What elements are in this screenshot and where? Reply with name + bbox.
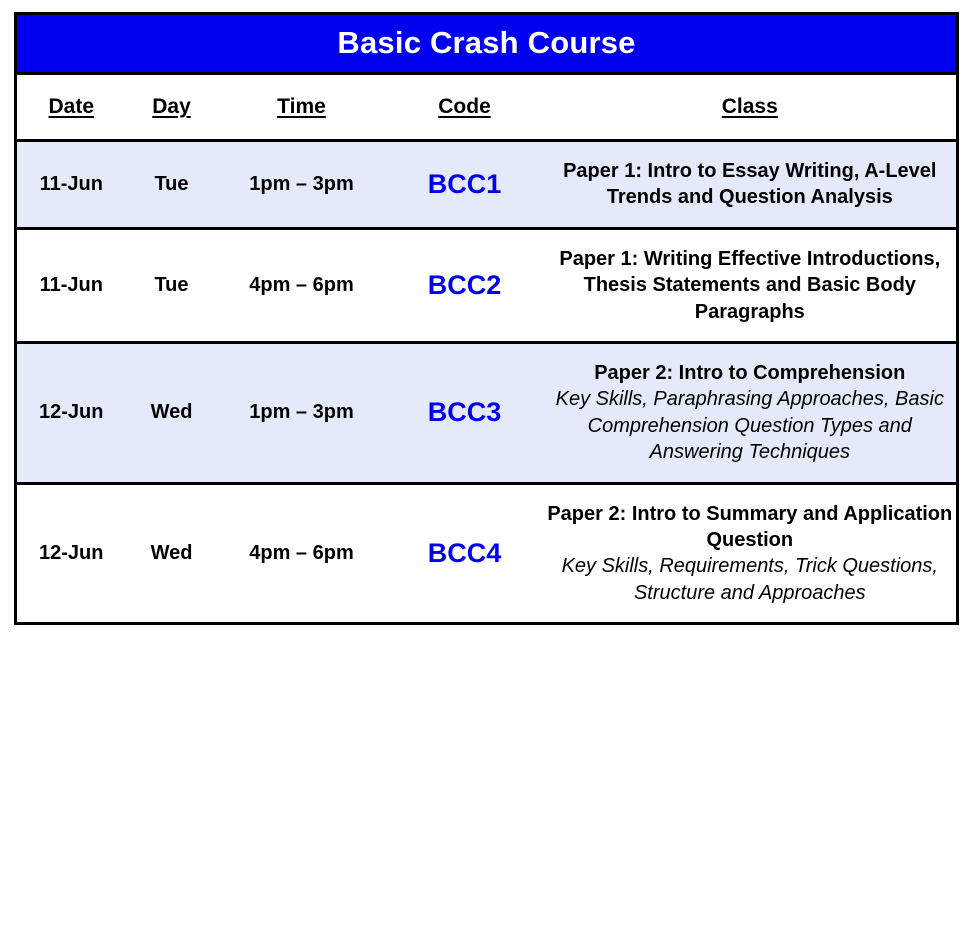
column-header-day-label: Day bbox=[152, 95, 191, 118]
column-header-time-label: Time bbox=[277, 95, 326, 118]
cell-time: 1pm – 3pm bbox=[218, 342, 386, 483]
cell-day: Wed bbox=[126, 342, 218, 483]
table-row: 12-Jun Wed 1pm – 3pm BCC3 Paper 2: Intro… bbox=[16, 342, 958, 483]
column-header-day: Day bbox=[126, 74, 218, 141]
column-header-date: Date bbox=[16, 74, 126, 141]
cell-class: Paper 2: Intro to Comprehension Key Skil… bbox=[544, 342, 958, 483]
cell-date: 12-Jun bbox=[16, 483, 126, 624]
table-row: 12-Jun Wed 4pm – 6pm BCC4 Paper 2: Intro… bbox=[16, 483, 958, 624]
cell-date: 12-Jun bbox=[16, 342, 126, 483]
course-schedule-table: Basic Crash Course Date Day Time Code Cl… bbox=[14, 12, 959, 625]
title-bar-row: Basic Crash Course bbox=[16, 14, 958, 74]
column-header-class-label: Class bbox=[722, 95, 778, 118]
cell-time: 4pm – 6pm bbox=[218, 483, 386, 624]
cell-date: 11-Jun bbox=[16, 228, 126, 342]
cell-time: 1pm – 3pm bbox=[218, 141, 386, 229]
table-row: 11-Jun Tue 4pm – 6pm BCC2 Paper 1: Writi… bbox=[16, 228, 958, 342]
column-header-row: Date Day Time Code Class bbox=[16, 74, 958, 141]
page-container: Basic Crash Course Date Day Time Code Cl… bbox=[0, 0, 970, 943]
class-subtitle: Key Skills, Requirements, Trick Question… bbox=[546, 553, 955, 606]
cell-code: BCC1 bbox=[386, 141, 544, 229]
class-subtitle: Key Skills, Paraphrasing Approaches, Bas… bbox=[546, 386, 955, 465]
class-title: Paper 1: Writing Effective Introductions… bbox=[546, 246, 955, 325]
class-title: Paper 1: Intro to Essay Writing, A-Level… bbox=[546, 158, 955, 211]
course-title: Basic Crash Course bbox=[16, 14, 958, 74]
column-header-class: Class bbox=[544, 74, 958, 141]
cell-code: BCC3 bbox=[386, 342, 544, 483]
column-header-code: Code bbox=[386, 74, 544, 141]
cell-date: 11-Jun bbox=[16, 141, 126, 229]
cell-code: BCC2 bbox=[386, 228, 544, 342]
cell-class: Paper 2: Intro to Summary and Applicatio… bbox=[544, 483, 958, 624]
table-row: 11-Jun Tue 1pm – 3pm BCC1 Paper 1: Intro… bbox=[16, 141, 958, 229]
cell-day: Wed bbox=[126, 483, 218, 624]
cell-time: 4pm – 6pm bbox=[218, 228, 386, 342]
class-title: Paper 2: Intro to Summary and Applicatio… bbox=[546, 501, 955, 554]
cell-code: BCC4 bbox=[386, 483, 544, 624]
cell-day: Tue bbox=[126, 141, 218, 229]
cell-class: Paper 1: Intro to Essay Writing, A-Level… bbox=[544, 141, 958, 229]
column-header-date-label: Date bbox=[48, 95, 94, 118]
column-header-code-label: Code bbox=[438, 95, 491, 118]
class-title: Paper 2: Intro to Comprehension bbox=[546, 360, 955, 386]
cell-class: Paper 1: Writing Effective Introductions… bbox=[544, 228, 958, 342]
cell-day: Tue bbox=[126, 228, 218, 342]
column-header-time: Time bbox=[218, 74, 386, 141]
